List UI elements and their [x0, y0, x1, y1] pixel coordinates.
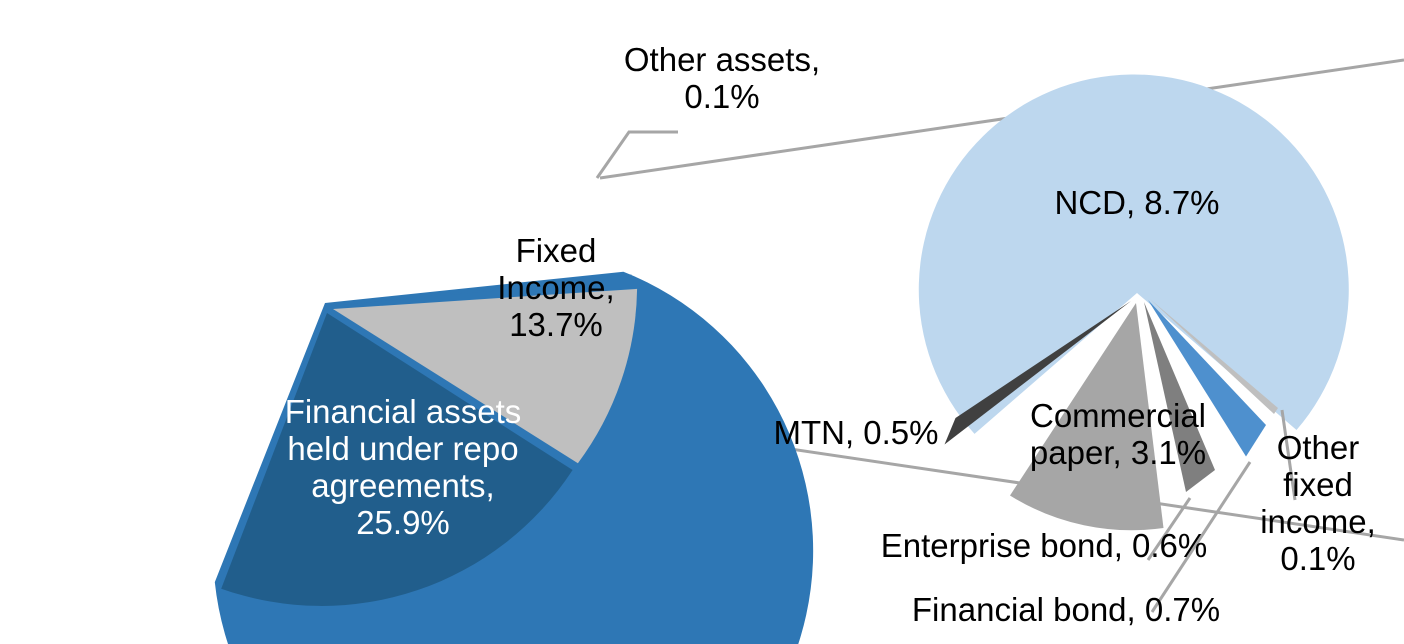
label-ncd: NCD, 8.7% — [1027, 185, 1247, 222]
label-enterprise-bond: Enterprise bond, 0.6% — [866, 528, 1222, 565]
label-bank-deposits: Bank deposits, 60.3% — [120, 146, 420, 220]
label-fixed-income: Fixed Income, 13.7% — [476, 233, 636, 344]
label-commercial-paper: Commercial paper, 3.1% — [1010, 398, 1226, 472]
label-other-fixed-income: Other fixed income, 0.1% — [1258, 430, 1378, 578]
label-financial-bond: Financial bond, 0.7% — [896, 592, 1236, 629]
label-other-assets: Other assets, 0.1% — [592, 42, 852, 116]
label-repo-agreements: Financial assets held under repo agreeme… — [258, 394, 548, 542]
chart-canvas: Bank deposits, 60.3% Other assets, 0.1% … — [0, 0, 1404, 644]
label-mtn: MTN, 0.5% — [756, 415, 956, 452]
